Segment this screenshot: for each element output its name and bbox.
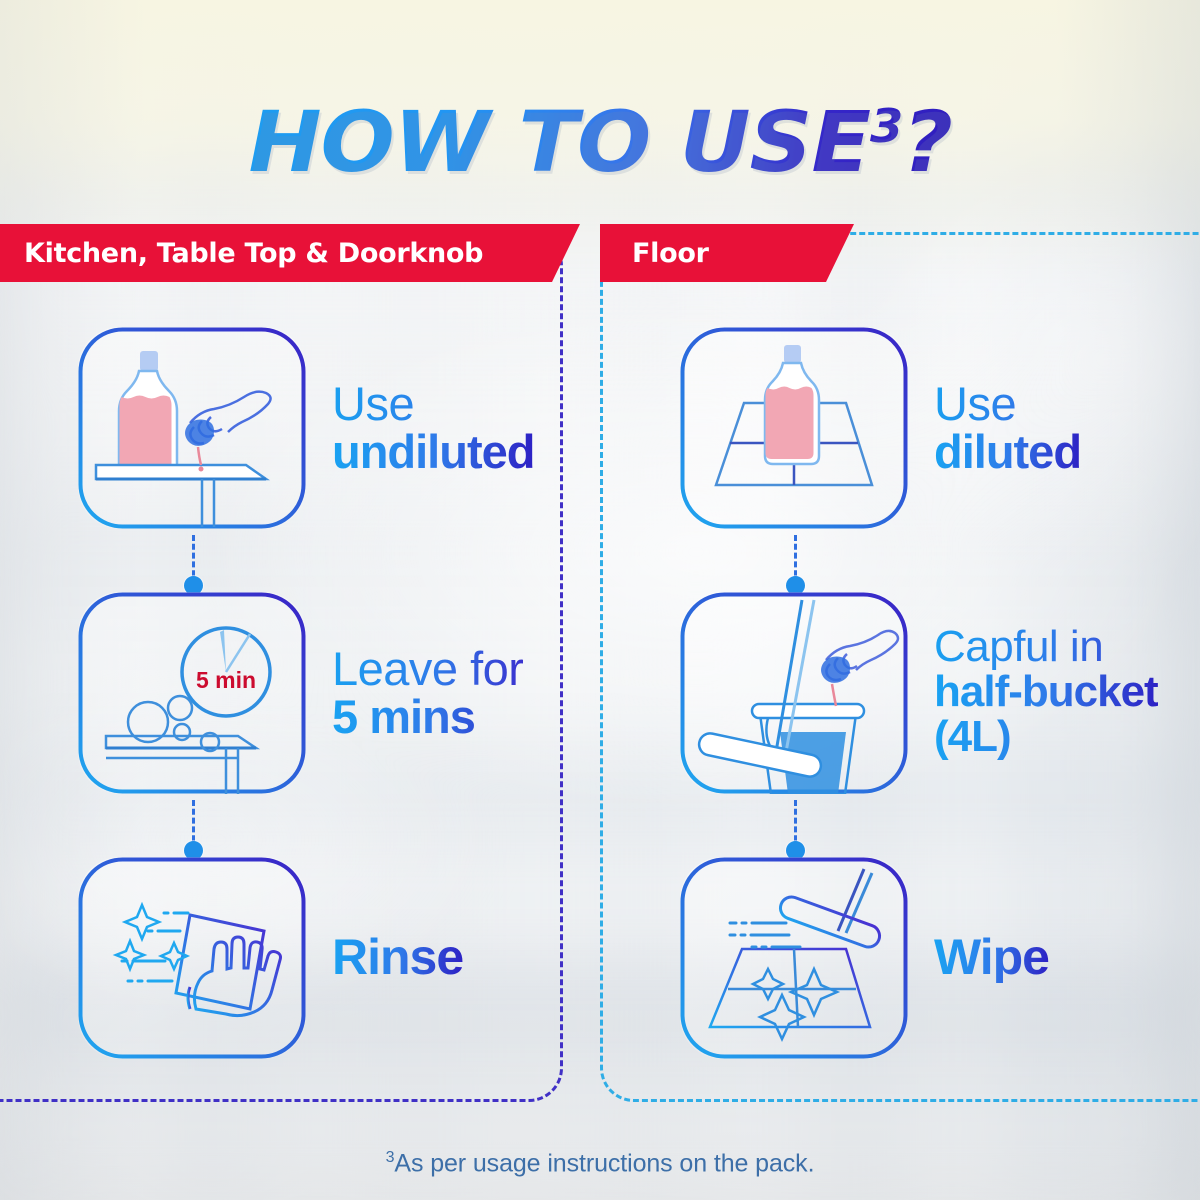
- step-kitchen-1: Use undiluted: [0, 320, 560, 535]
- caption-kitchen-1: Use undiluted: [332, 380, 534, 476]
- banner-floor-label: Floor: [632, 238, 709, 269]
- caption-floor-3-line2: Wipe: [934, 932, 1049, 983]
- steps-column-kitchen: Use undiluted 5 min: [0, 320, 560, 1065]
- caption-kitchen-2-line1: Leave for: [332, 645, 523, 693]
- timer-label: 5 min: [196, 667, 256, 693]
- icon-bottle-on-table-with-pouring-hand-icon: [78, 327, 306, 529]
- step-kitchen-3: Rinse: [0, 850, 560, 1065]
- steps-column-floor: Use diluted: [600, 320, 1200, 1065]
- page-title-container: HOW TO USE3?: [0, 44, 1200, 241]
- banner-kitchen-label: Kitchen, Table Top & Doorknob: [24, 238, 483, 269]
- caption-floor-2-line2: half-bucket: [934, 670, 1158, 715]
- icon-mop-wiping-sparkling-floor-icon: [680, 857, 908, 1059]
- caption-floor-1-line1: Use: [934, 380, 1081, 428]
- banner-kitchen: Kitchen, Table Top & Doorknob: [0, 224, 580, 282]
- step-kitchen-2: 5 min Leave for 5 mins: [0, 585, 560, 800]
- page-title-superscript: 3: [870, 99, 902, 153]
- icon-timer-five-minutes-bubbles-on-table-icon: 5 min: [78, 592, 306, 794]
- icon-bottle-on-tiled-floor-icon: [680, 327, 908, 529]
- page-title-question-mark: ?: [902, 93, 952, 191]
- caption-kitchen-3: Rinse: [332, 932, 463, 983]
- caption-floor-2: Capful in half-bucket (4L): [934, 625, 1158, 760]
- caption-kitchen-2-line2: 5 mins: [332, 693, 523, 741]
- caption-floor-3: Wipe: [934, 932, 1049, 983]
- banner-floor: Floor: [600, 224, 854, 282]
- page-title-text: HOW TO USE: [248, 93, 870, 191]
- caption-floor-1-line2: diluted: [934, 428, 1081, 476]
- caption-floor-2-line3: (4L): [934, 715, 1158, 760]
- page-title: HOW TO USE3?: [248, 100, 951, 184]
- icon-bucket-mop-capful-pour-icon: [680, 592, 908, 794]
- step-floor-3: Wipe: [600, 850, 1200, 1065]
- footnote: 3As per usage instructions on the pack.: [0, 1149, 1200, 1178]
- caption-kitchen-1-line2: undiluted: [332, 428, 534, 476]
- step-floor-2: Capful in half-bucket (4L): [600, 585, 1200, 800]
- caption-kitchen-3-line2: Rinse: [332, 932, 463, 983]
- icon-hand-wiping-cloth-sparkles-icon: [78, 857, 306, 1059]
- caption-floor-2-line1: Capful in: [934, 625, 1158, 670]
- caption-kitchen-2: Leave for 5 mins: [332, 645, 523, 741]
- footnote-text: As per usage instructions on the pack.: [394, 1149, 814, 1177]
- caption-kitchen-1-line1: Use: [332, 380, 534, 428]
- step-floor-1: Use diluted: [600, 320, 1200, 535]
- caption-floor-1: Use diluted: [934, 380, 1081, 476]
